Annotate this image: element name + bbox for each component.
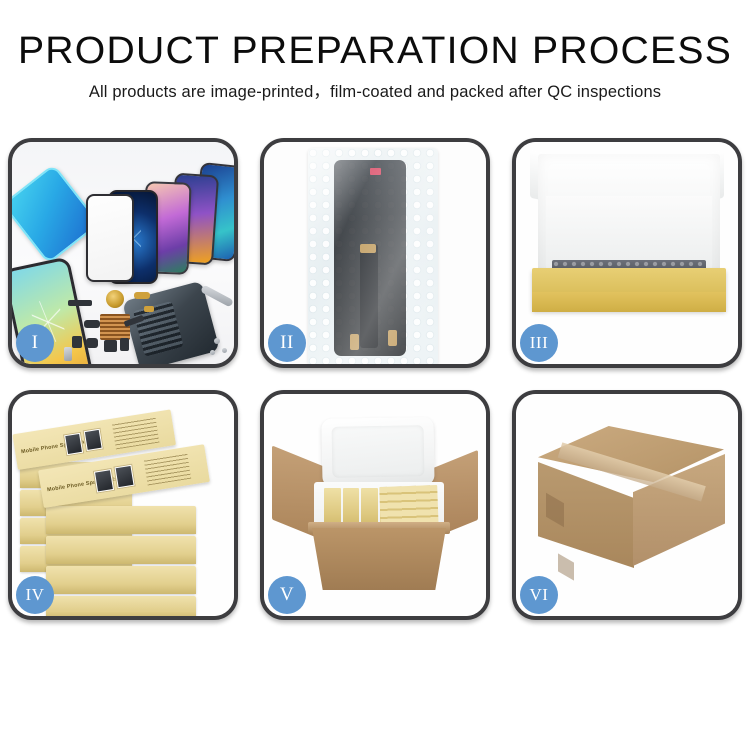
- part-screw-c: [210, 350, 215, 355]
- red-label-tab: [370, 168, 381, 175]
- step-2-badge: II: [268, 324, 306, 362]
- box-screen-image-front-1: [93, 468, 115, 494]
- part-speaker-coin: [106, 290, 124, 308]
- step-6-badge: VI: [520, 576, 558, 614]
- step-3-badge: III: [520, 324, 558, 362]
- process-step-3: III: [512, 138, 742, 368]
- part-screw-a: [214, 338, 220, 344]
- process-step-4: Mobile Phone Spare Parts Mobile Phone Sp…: [8, 390, 238, 620]
- lcd-connector-top: [360, 244, 376, 253]
- stack-box-front-2: [46, 536, 196, 564]
- part-gold-bracket: [134, 292, 150, 299]
- step-5-badge: V: [268, 576, 306, 614]
- carton-seam-lower: [558, 553, 574, 580]
- box-screen-image-front-2: [113, 464, 135, 490]
- lcd-connector-right: [388, 330, 397, 346]
- part-gold-clip: [144, 306, 154, 312]
- step-1-badge: I: [16, 324, 54, 362]
- process-step-1: I: [8, 138, 238, 368]
- process-step-5: V: [260, 390, 490, 620]
- box-spec-lines-back: [112, 417, 160, 450]
- part-earpiece: [104, 340, 117, 352]
- phone-front-glass: [86, 194, 134, 282]
- process-step-6: VI: [512, 390, 742, 620]
- bubble-wrap-bag: [308, 148, 438, 364]
- part-antenna-strip: [68, 300, 92, 306]
- part-copper-shield: [100, 314, 130, 340]
- part-vibration-motor: [72, 336, 82, 348]
- process-step-2: II: [260, 138, 490, 368]
- carton-body: [312, 528, 446, 590]
- stack-box-front-1: [46, 506, 196, 534]
- lcd-flex-cable: [360, 244, 378, 348]
- lcd-connector-left: [350, 334, 359, 350]
- box-screen-image-back-1: [63, 432, 84, 457]
- process-step-grid: I II III: [8, 138, 742, 620]
- part-battery-connector: [120, 338, 129, 351]
- part-sim-tray: [64, 347, 72, 361]
- step-4-badge: IV: [16, 576, 54, 614]
- stack-box-front-3: [46, 566, 196, 594]
- page-header: PRODUCT PREPARATION PROCESS All products…: [0, 0, 750, 103]
- stack-box-front-4: [46, 596, 196, 616]
- part-button-set: [86, 338, 98, 348]
- page-title: PRODUCT PREPARATION PROCESS: [0, 28, 750, 74]
- box-spec-lines-front: [144, 453, 192, 486]
- box-screen-image-back-2: [83, 428, 104, 453]
- foam-lid-open: [321, 417, 434, 487]
- part-camera-module: [84, 320, 100, 328]
- part-screw-b: [222, 348, 227, 353]
- kraft-inner-box-front: [532, 292, 726, 312]
- page-subtitle: All products are image-printed，film-coat…: [0, 81, 750, 103]
